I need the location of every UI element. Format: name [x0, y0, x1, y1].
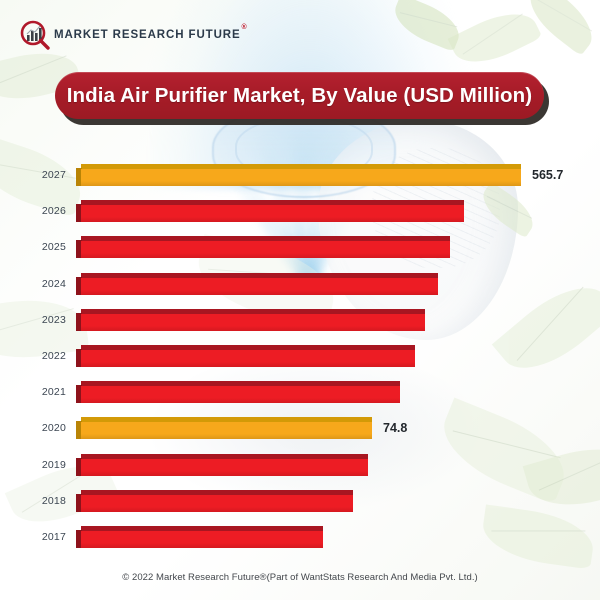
- bar-front-face: [81, 241, 450, 258]
- bar-end-cap: [394, 381, 400, 386]
- bar-end-cap: [458, 200, 464, 205]
- bar-row: 2023: [0, 309, 600, 335]
- bar-front-face: [81, 531, 323, 548]
- bar-end-cap: [347, 490, 353, 495]
- year-axis-label: 2018: [0, 490, 66, 512]
- bar-front-face: [81, 314, 425, 331]
- bar-row: 2018: [0, 490, 600, 516]
- bar-row: 2021: [0, 381, 600, 407]
- bar-2022[interactable]: [76, 345, 415, 367]
- bar-front-face: [81, 386, 400, 403]
- bar-front-face: [81, 459, 368, 476]
- year-axis-label: 2022: [0, 345, 66, 367]
- bar-end-cap: [366, 417, 372, 422]
- bar-value-label: 565.7: [532, 164, 563, 186]
- bar-front-face: [81, 350, 415, 367]
- bar-row: 2025: [0, 236, 600, 262]
- bar-2023[interactable]: [76, 309, 425, 331]
- bar-chart: 2027565.7202620252024202320222021202074.…: [0, 0, 600, 600]
- infographic-canvas: MARKET RESEARCH FUTURE ® India Air Purif…: [0, 0, 600, 600]
- bar-front-face: [81, 422, 372, 439]
- year-axis-label: 2023: [0, 309, 66, 331]
- bar-front-face: [81, 495, 353, 512]
- bar-end-cap: [362, 454, 368, 459]
- bar-row: 2017: [0, 526, 600, 552]
- bar-2021[interactable]: [76, 381, 400, 403]
- bar-end-cap: [515, 164, 521, 169]
- year-axis-label: 2026: [0, 200, 66, 222]
- bar-end-cap: [444, 236, 450, 241]
- bar-row: 202074.8: [0, 417, 600, 443]
- bar-2020[interactable]: [76, 417, 372, 439]
- year-axis-label: 2024: [0, 273, 66, 295]
- bar-2024[interactable]: [76, 273, 438, 295]
- year-axis-label: 2017: [0, 526, 66, 548]
- bar-row: 2022: [0, 345, 600, 371]
- bar-2025[interactable]: [76, 236, 450, 258]
- bar-value-label: 74.8: [383, 417, 407, 439]
- bar-2026[interactable]: [76, 200, 464, 222]
- year-axis-label: 2021: [0, 381, 66, 403]
- bar-2018[interactable]: [76, 490, 353, 512]
- bar-2017[interactable]: [76, 526, 323, 548]
- bar-row: 2026: [0, 200, 600, 226]
- year-axis-label: 2019: [0, 454, 66, 476]
- year-axis-label: 2025: [0, 236, 66, 258]
- bar-front-face: [81, 169, 521, 186]
- bar-row: 2027565.7: [0, 164, 600, 190]
- bar-2019[interactable]: [76, 454, 368, 476]
- bar-row: 2024: [0, 273, 600, 299]
- year-axis-label: 2027: [0, 164, 66, 186]
- bar-end-cap: [409, 345, 415, 350]
- bar-front-face: [81, 205, 464, 222]
- bar-row: 2019: [0, 454, 600, 480]
- bar-end-cap: [419, 309, 425, 314]
- copyright-footer: © 2022 Market Research Future®(Part of W…: [0, 572, 600, 583]
- bar-2027[interactable]: [76, 164, 521, 186]
- bar-end-cap: [317, 526, 323, 531]
- year-axis-label: 2020: [0, 417, 66, 439]
- bar-end-cap: [432, 273, 438, 278]
- bar-front-face: [81, 278, 438, 295]
